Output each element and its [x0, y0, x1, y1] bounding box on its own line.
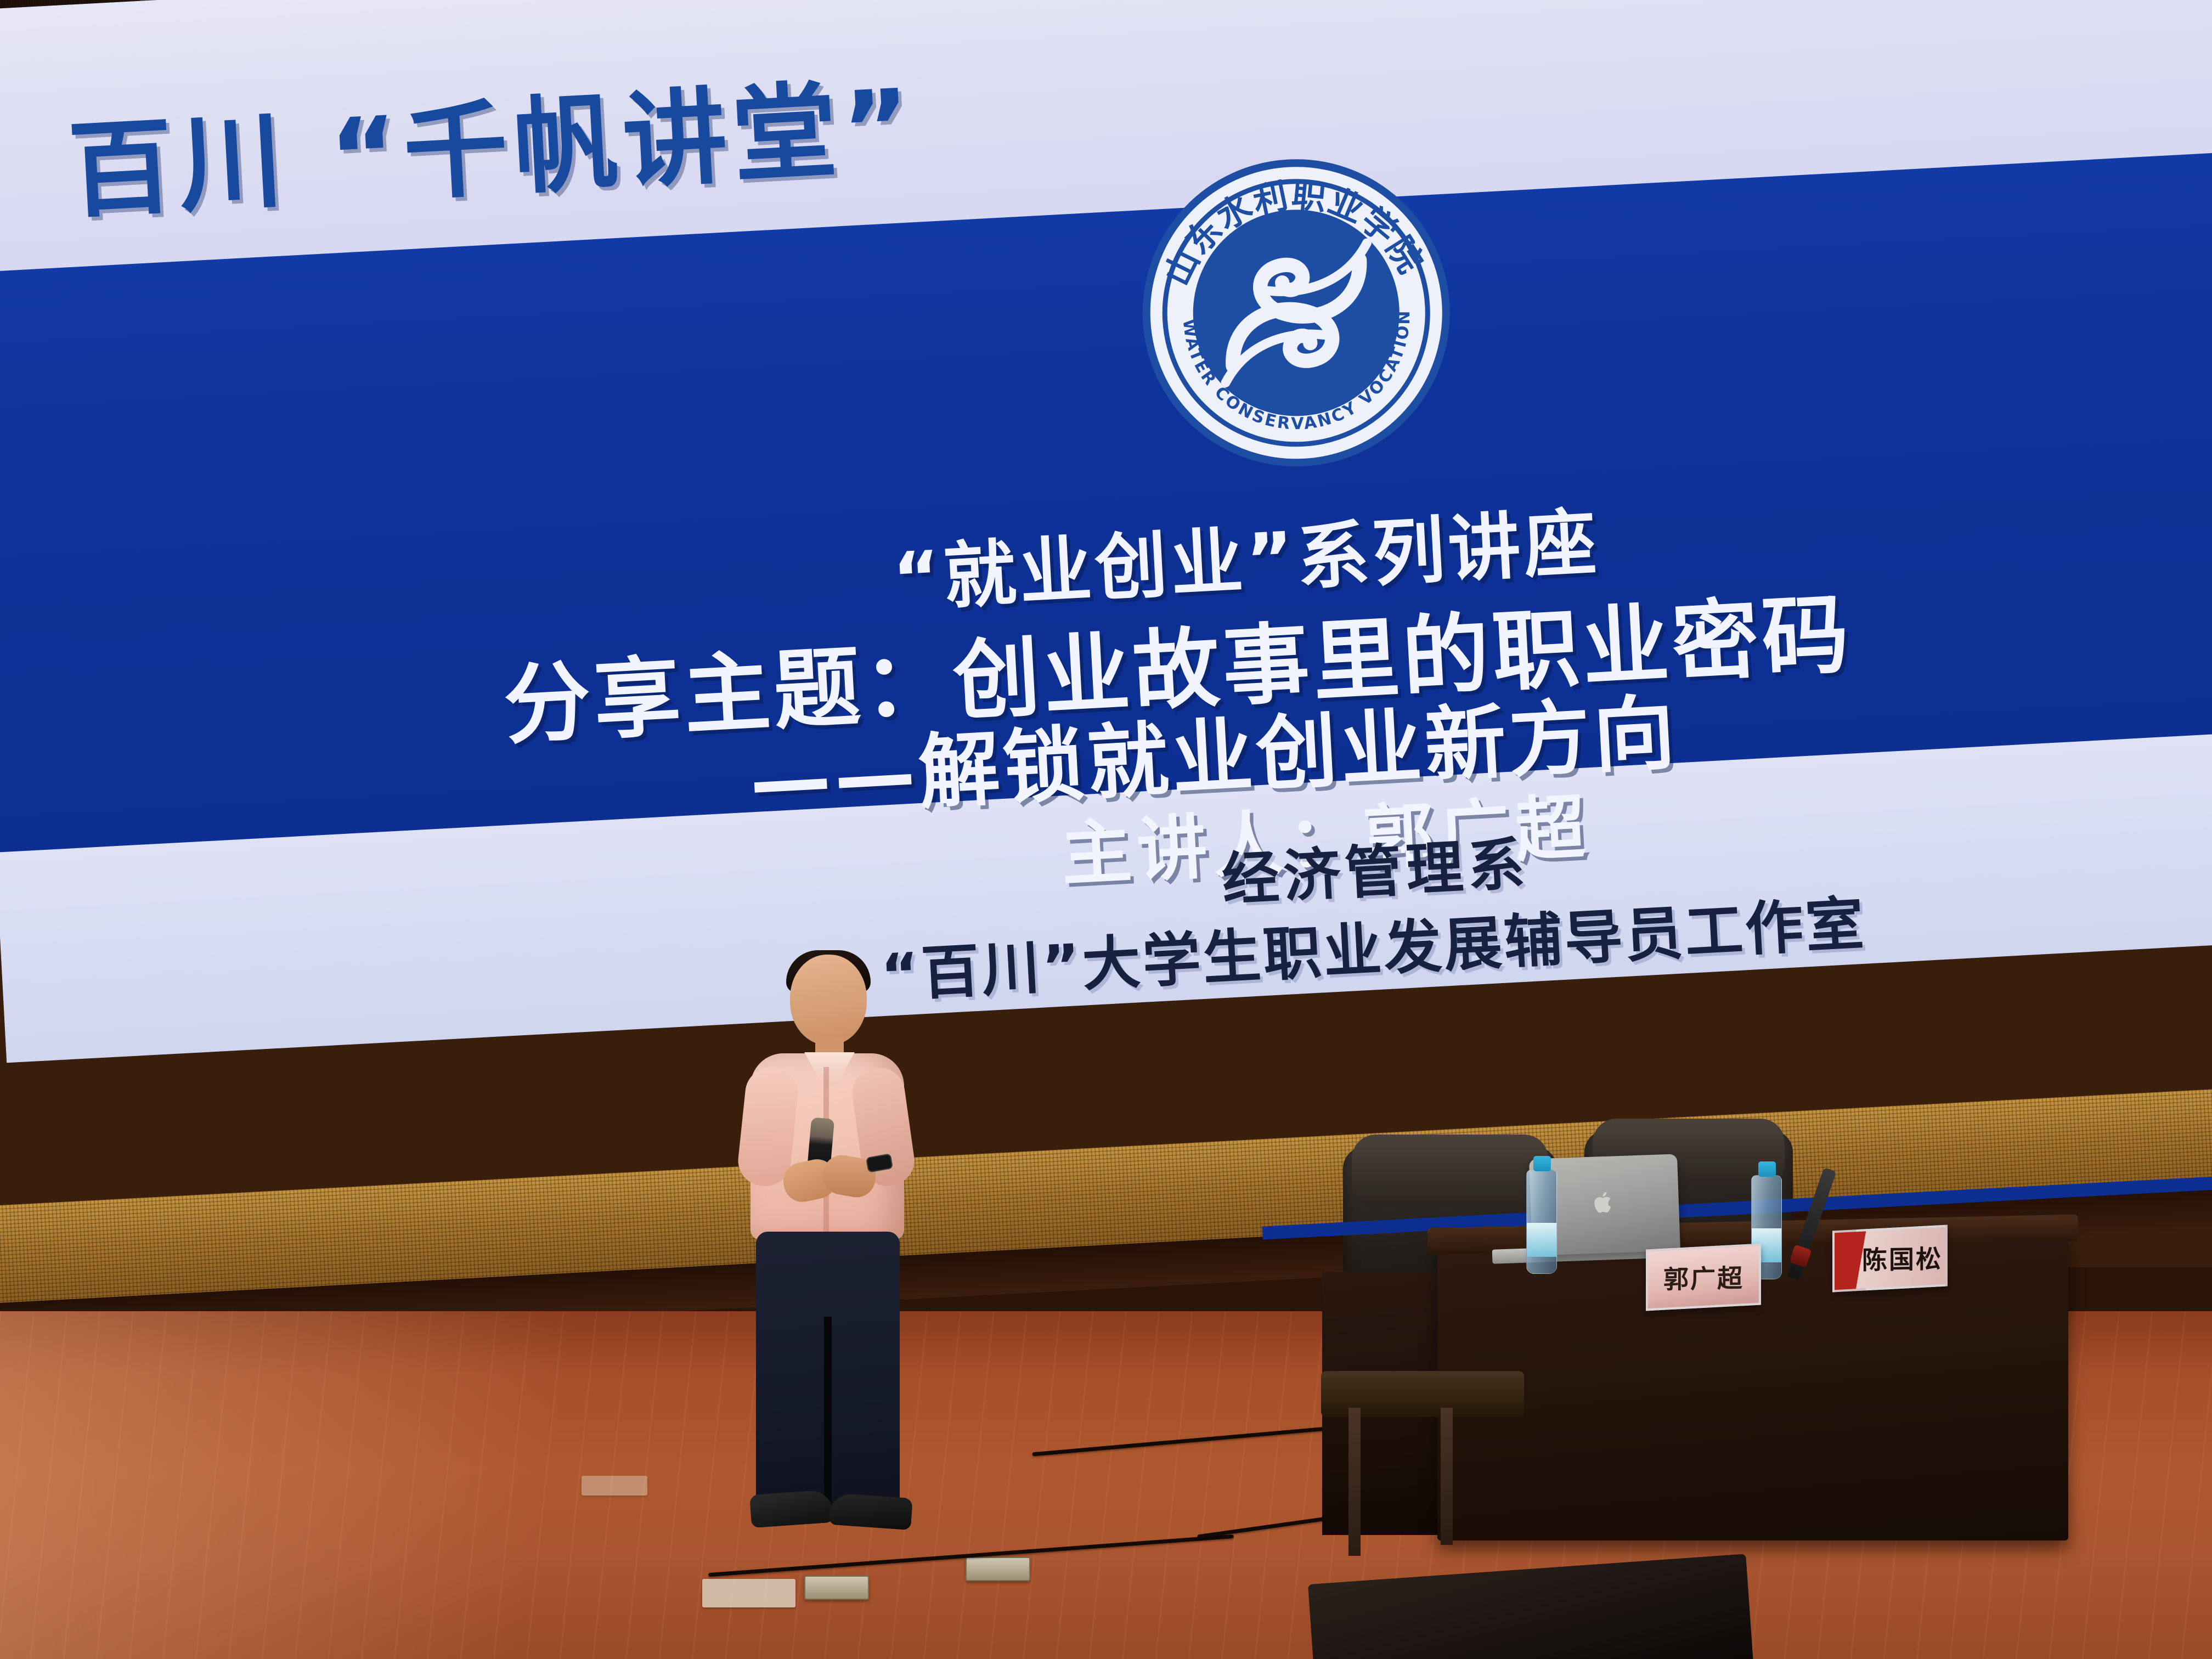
- floor-socket: [804, 1576, 869, 1600]
- floor-debris: [702, 1579, 795, 1607]
- presenter: [708, 955, 938, 1536]
- floor-socket: [966, 1557, 1030, 1581]
- water-bottle-left: [1526, 1170, 1557, 1274]
- presenter-head: [790, 955, 867, 1045]
- college-logo: 山东水利职业学院 SHANDONG WATER CONSERVANCY VOCA…: [1135, 151, 1458, 475]
- nameplate-text: 郭广超: [1663, 1259, 1744, 1296]
- presenter-right-shoe: [828, 1493, 913, 1530]
- presenter-leg-gap: [824, 1317, 832, 1509]
- svg-text:SHANDONG WATER CONSERVANCY VOC: SHANDONG WATER CONSERVANCY VOCATIONAL CO…: [1135, 151, 1420, 442]
- led-backdrop-screen: 百川 “千帆讲堂” 山东水利职业学院 SHANDONG WATER CONSER…: [0, 0, 2212, 1063]
- floor-debris: [582, 1476, 647, 1496]
- bottle-cap: [1758, 1161, 1776, 1177]
- nameplate-guo-guangchao: 郭广超: [1646, 1243, 1761, 1311]
- bottle-cap: [1533, 1156, 1551, 1171]
- bottle-label: [1527, 1223, 1556, 1257]
- presenter-left-shoe: [749, 1489, 834, 1528]
- nameplate-text: 陈国松: [1862, 1239, 1943, 1277]
- logo-english-name-arc: SHANDONG WATER CONSERVANCY VOCATIONAL CO…: [1135, 151, 1458, 475]
- chair-leg: [1441, 1408, 1453, 1545]
- lecture-hall-photo: 百川 “千帆讲堂” 山东水利职业学院 SHANDONG WATER CONSER…: [0, 0, 2212, 1659]
- chair-headrest: [1352, 1135, 1549, 1208]
- chair-leg: [1348, 1408, 1361, 1556]
- apple-logo-icon: [1593, 1190, 1616, 1216]
- floor-light-reflection: [0, 1311, 768, 1659]
- nameplate-chen-guosong: 陈国松: [1832, 1224, 1948, 1292]
- chair-side-wooden: [1332, 1293, 1513, 1523]
- logo-name-en: SHANDONG WATER CONSERVANCY VOCATIONAL CO…: [1135, 151, 1420, 442]
